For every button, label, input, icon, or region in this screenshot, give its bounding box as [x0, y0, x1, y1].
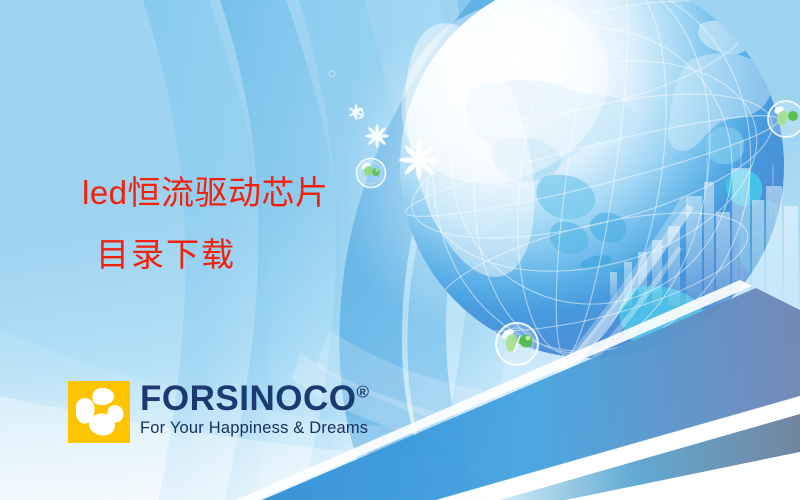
sparkle-flower-small	[365, 124, 389, 148]
bubble-right-edge	[768, 101, 800, 137]
pinwheel-glyph	[68, 381, 130, 443]
logo-tagline: For Your Happiness & Dreams	[140, 418, 369, 438]
four-petal-pinwheel-icon	[68, 381, 130, 443]
company-logo: FORSINOCO® For Your Happiness & Dreams	[68, 381, 369, 443]
headline-line-2: 目录下载	[96, 224, 236, 286]
marketing-banner: led恒流驱动芯片 目录下载 FORSINOCO® For Your Happi…	[0, 0, 800, 500]
registered-trademark-symbol: ®	[356, 382, 369, 401]
logo-wordmark-text: FORSINOCO	[140, 379, 356, 418]
bubble-small-top	[357, 159, 386, 188]
sparkle-flower-large	[399, 140, 439, 180]
logo-wordmark: FORSINOCO®	[140, 382, 369, 416]
bubble-mid-left	[496, 323, 538, 365]
headline-line-1: led恒流驱动芯片	[82, 162, 329, 224]
